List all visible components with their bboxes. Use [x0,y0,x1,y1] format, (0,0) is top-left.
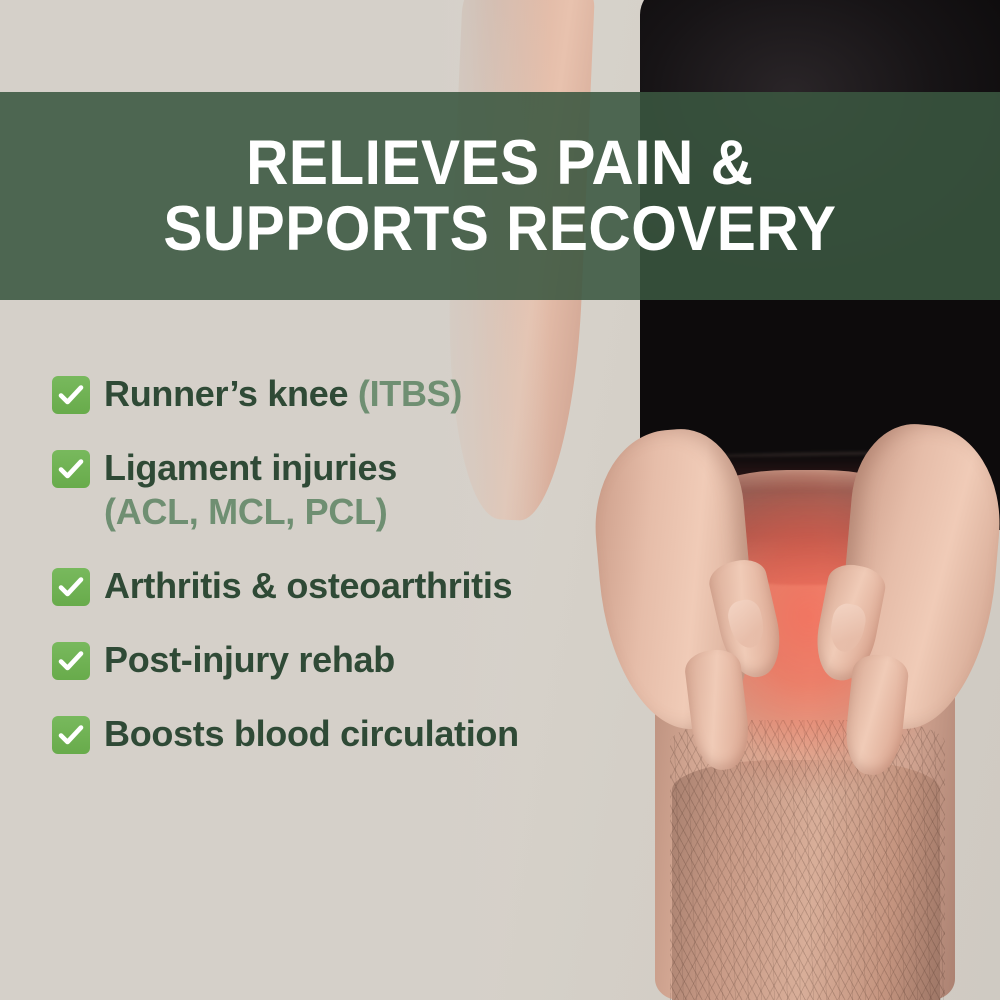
checkbox-checked-icon [52,642,90,680]
list-item: Ligament injuries(ACL, MCL, PCL) [52,446,652,534]
checkbox-checked-icon [52,716,90,754]
list-item-text: Post-injury rehab [104,638,395,682]
list-item-note: (ACL, MCL, PCL) [104,491,387,532]
promo-poster: RELIEVES PAIN & SUPPORTS RECOVERY Runner… [0,0,1000,1000]
list-item-text: Ligament injuries(ACL, MCL, PCL) [104,446,397,534]
checkbox-checked-icon [52,376,90,414]
checkbox-checked-icon [52,450,90,488]
benefits-checklist: Runner’s knee (ITBS) Ligament injuries(A… [52,372,652,785]
list-item: Runner’s knee (ITBS) [52,372,652,416]
list-item-note: (ITBS) [358,373,462,414]
headline-line-1: RELIEVES PAIN & [246,131,753,195]
list-item: Arthritis & osteoarthritis [52,564,652,608]
list-item-text: Boosts blood circulation [104,712,519,756]
header-banner: RELIEVES PAIN & SUPPORTS RECOVERY [0,92,1000,300]
headline-line-2: SUPPORTS RECOVERY [163,197,836,261]
list-item-text: Arthritis & osteoarthritis [104,564,512,608]
list-item-label: Runner’s knee [104,373,358,414]
list-item-text: Runner’s knee (ITBS) [104,372,462,416]
list-item: Boosts blood circulation [52,712,652,756]
list-item-label: Ligament injuries [104,447,397,488]
list-item: Post-injury rehab [52,638,652,682]
checkbox-checked-icon [52,568,90,606]
